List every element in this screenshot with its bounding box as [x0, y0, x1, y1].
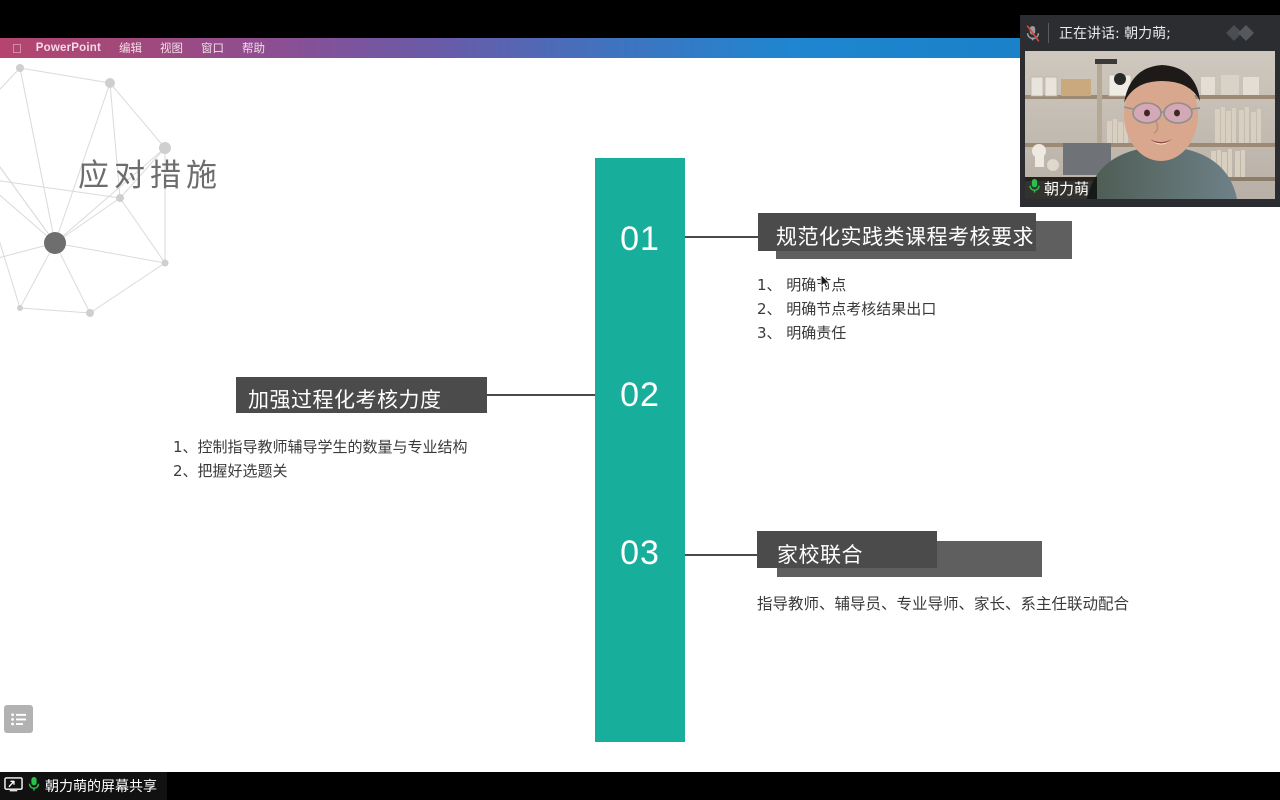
menu-item-window[interactable]: 窗口	[201, 40, 224, 56]
menu-item-help[interactable]: 帮助	[242, 40, 265, 56]
app-root:  PowerPoint 编辑 视图 窗口 帮助 1478字 中	[0, 0, 1280, 800]
zoom-logo-icon	[1212, 22, 1268, 44]
video-panel-header: 正在讲话: 朝力萌;	[1020, 15, 1280, 51]
section-03-subtext: 指导教师、辅导员、专业导师、家长、系主任联动配合	[757, 592, 1129, 614]
section-03-tag: 家校联合	[757, 531, 1047, 579]
participant-name-chip: 朝力萌	[1025, 177, 1097, 199]
page-title: 应对措施	[78, 150, 222, 195]
menu-app-name[interactable]: PowerPoint	[36, 42, 101, 54]
speaking-label: 正在讲话: 朝力萌;	[1059, 23, 1171, 43]
video-panel[interactable]: 正在讲话: 朝力萌;	[1020, 15, 1280, 207]
section-02-tag: 加强过程化考核力度	[236, 377, 491, 415]
microphone-active-icon	[1028, 178, 1041, 198]
list-icon	[11, 713, 27, 726]
section-02-heading: 加强过程化考核力度	[248, 384, 442, 414]
section-01-tag: 规范化实践类课程考核要求	[758, 213, 1078, 259]
screen-share-status: 朝力萌的屏幕共享	[0, 772, 167, 800]
list-item: 1、控制指导教师辅导学生的数量与专业结构	[173, 435, 468, 459]
microphone-muted-icon[interactable]	[1020, 24, 1046, 43]
list-item: 2、 明确节点考核结果出口	[757, 297, 936, 321]
microphone-active-icon	[28, 776, 40, 796]
section-03-heading: 家校联合	[777, 539, 863, 569]
slide-list-button[interactable]	[4, 705, 33, 733]
screen-share-label: 朝力萌的屏幕共享	[45, 776, 157, 796]
mouse-cursor-icon	[820, 274, 831, 289]
section-number-01: 01	[595, 220, 685, 259]
screen-share-icon	[4, 777, 23, 796]
connector-line-02	[487, 394, 595, 396]
section-01-bullets: 1、 明确节点 2、 明确节点考核结果出口 3、 明确责任	[757, 273, 936, 345]
menu-item-edit[interactable]: 编辑	[119, 40, 142, 56]
list-item: 3、 明确责任	[757, 321, 936, 345]
section-number-02: 02	[595, 376, 685, 415]
section-02-bullets: 1、控制指导教师辅导学生的数量与专业结构 2、把握好选题关	[173, 435, 468, 483]
list-item: 2、把握好选题关	[173, 459, 468, 483]
video-feed[interactable]: 朝力萌	[1025, 51, 1275, 199]
participant-name-label: 朝力萌	[1044, 178, 1089, 199]
list-item: 1、 明确节点	[757, 273, 936, 297]
apple-menu-icon[interactable]: 	[12, 42, 22, 55]
header-divider	[1048, 23, 1049, 43]
section-01-heading: 规范化实践类课程考核要求	[776, 221, 1034, 251]
section-number-03: 03	[595, 534, 685, 573]
menu-item-view[interactable]: 视图	[160, 40, 183, 56]
bottom-bar: 朝力萌的屏幕共享	[0, 772, 1280, 800]
